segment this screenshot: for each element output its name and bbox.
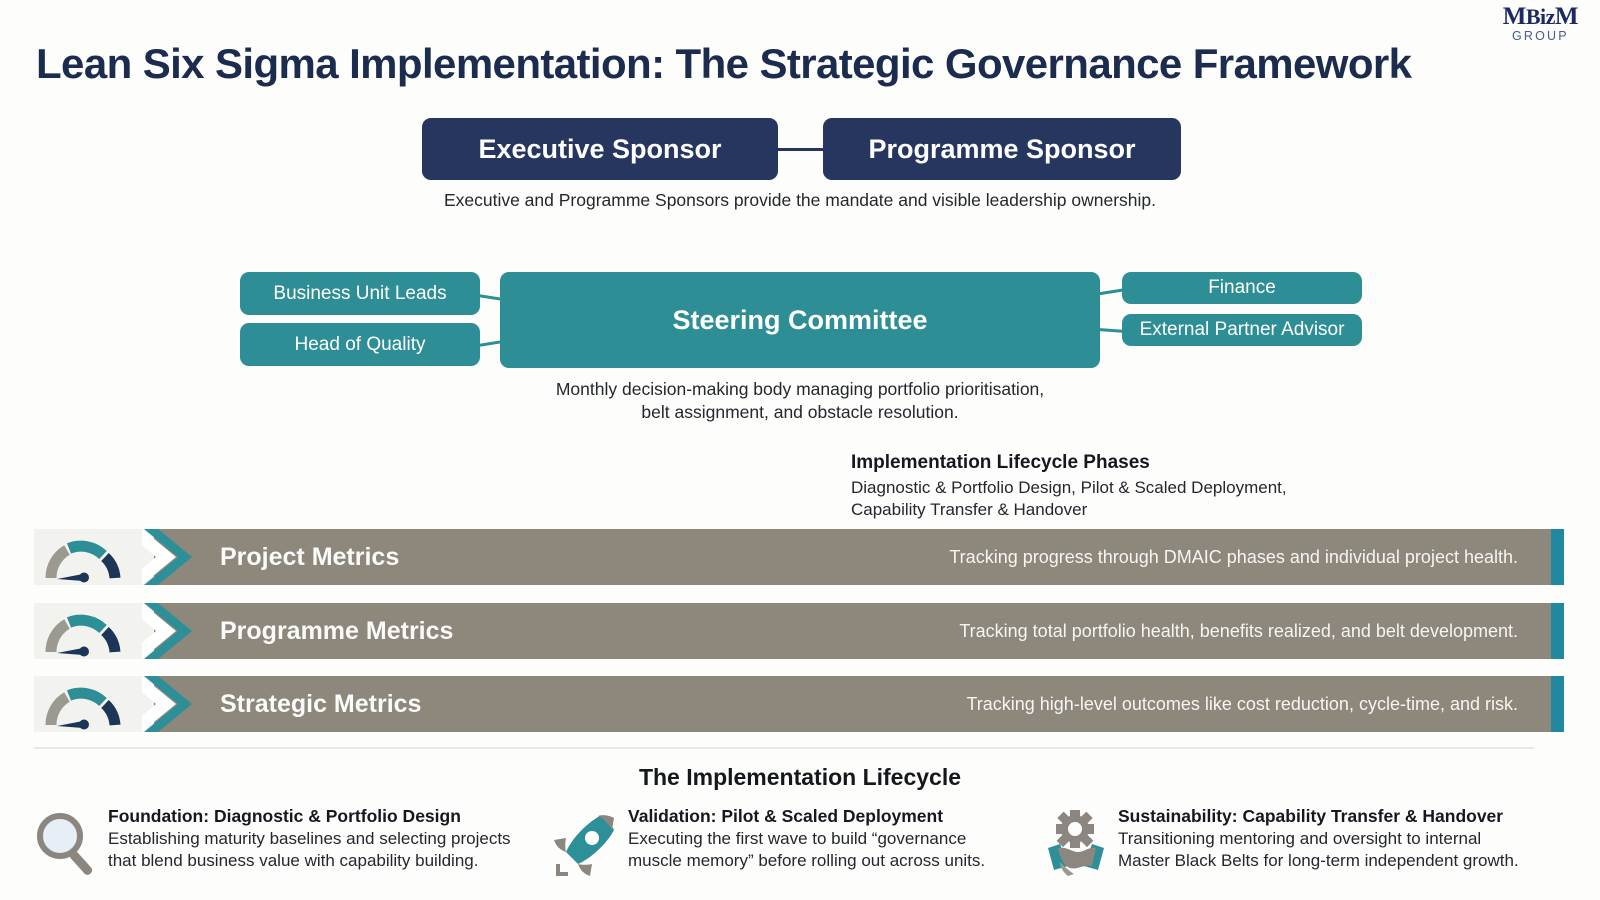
brand-letter-biz: Biz xyxy=(1526,4,1555,29)
gauge-icon xyxy=(41,680,139,730)
member-box-head-of-quality[interactable]: Head of Quality xyxy=(240,323,480,366)
metric-description: Tracking progress through DMAIC phases a… xyxy=(949,529,1518,585)
metric-label: Strategic Metrics xyxy=(220,676,421,732)
lifecycle-item-body-line-2: that blend business value with capabilit… xyxy=(108,850,548,872)
lifecycle-item-text: Validation: Pilot & Scaled Deployment Ex… xyxy=(628,806,1068,872)
chevron-right-icon xyxy=(142,603,204,659)
lifecycle-item-body: Transitioning mentoring and oversight to… xyxy=(1118,828,1588,872)
member-box-business-unit-leads[interactable]: Business Unit Leads xyxy=(240,272,480,315)
lifecycle-item-body-line-2: muscle memory” before rolling out across… xyxy=(628,850,1068,872)
lifecycle-item-body-line-2: Master Black Belts for long-term indepen… xyxy=(1118,850,1588,872)
metric-label: Programme Metrics xyxy=(220,603,453,659)
steering-committee-group: Business Unit Leads Head of Quality Stee… xyxy=(0,272,1600,372)
steering-committee-box[interactable]: Steering Committee xyxy=(500,272,1100,368)
programme-sponsor-box[interactable]: Programme Sponsor xyxy=(823,118,1181,180)
phases-heading: Implementation Lifecycle Phases xyxy=(851,452,1551,474)
lifecycle-item-foundation[interactable]: Foundation: Diagnostic & Portfolio Desig… xyxy=(28,806,508,886)
lifecycle-item-body-line-1: Executing the first wave to build “gover… xyxy=(628,828,1068,850)
sponsor-connector-line xyxy=(778,148,823,151)
section-divider xyxy=(34,747,1534,749)
brand-logo: MBizM GROUP xyxy=(1503,4,1578,43)
brand-wordmark: MBizM xyxy=(1503,4,1578,29)
gauge-icon xyxy=(41,533,139,583)
member-label-head-of-quality: Head of Quality xyxy=(295,334,426,356)
metric-description: Tracking total portfolio health, benefit… xyxy=(959,603,1518,659)
sponsor-row: Executive Sponsor Programme Sponsor xyxy=(0,118,1600,180)
phases-body: Diagnostic & Portfolio Design, Pilot & S… xyxy=(851,477,1551,521)
brand-letter-m2: M xyxy=(1555,3,1578,30)
steering-caption-line-1: Monthly decision-making body managing po… xyxy=(0,378,1600,401)
chevron-right-icon xyxy=(142,529,204,585)
metric-row-programme[interactable]: Programme Metrics Tracking total portfol… xyxy=(34,603,1564,659)
magnifier-icon xyxy=(28,808,104,880)
member-label-external-partner-advisor: External Partner Advisor xyxy=(1140,319,1345,341)
lifecycle-section-title: The Implementation Lifecycle xyxy=(0,764,1600,791)
phases-body-line-2: Capability Transfer & Handover xyxy=(851,499,1551,521)
metric-bar-end-cap xyxy=(1551,529,1564,585)
member-label-finance: Finance xyxy=(1208,277,1276,299)
member-label-business-unit-leads: Business Unit Leads xyxy=(273,283,446,305)
member-box-external-partner-advisor[interactable]: External Partner Advisor xyxy=(1122,314,1362,346)
lifecycle-item-text: Foundation: Diagnostic & Portfolio Desig… xyxy=(108,806,548,872)
chevron-right-icon xyxy=(142,676,204,732)
sponsor-caption: Executive and Programme Sponsors provide… xyxy=(0,190,1600,211)
lifecycle-item-body-line-1: Transitioning mentoring and oversight to… xyxy=(1118,828,1588,850)
metric-bar-end-cap xyxy=(1551,676,1564,732)
programme-sponsor-label: Programme Sponsor xyxy=(868,134,1135,165)
steering-caption-line-2: belt assignment, and obstacle resolution… xyxy=(0,401,1600,424)
steering-committee-caption: Monthly decision-making body managing po… xyxy=(0,378,1600,424)
implementation-lifecycle-phases: Implementation Lifecycle Phases Diagnost… xyxy=(851,452,1551,521)
lifecycle-item-body: Establishing maturity baselines and sele… xyxy=(108,828,548,872)
member-box-finance[interactable]: Finance xyxy=(1122,272,1362,304)
lifecycle-item-validation[interactable]: Validation: Pilot & Scaled Deployment Ex… xyxy=(548,806,1028,886)
rocket-icon xyxy=(548,808,624,880)
lifecycle-item-body-line-1: Establishing maturity baselines and sele… xyxy=(108,828,548,850)
lifecycle-item-heading: Foundation: Diagnostic & Portfolio Desig… xyxy=(108,806,548,827)
gauge-icon xyxy=(41,607,139,657)
lifecycle-item-heading: Validation: Pilot & Scaled Deployment xyxy=(628,806,1068,827)
metric-bar-end-cap xyxy=(1551,603,1564,659)
executive-sponsor-box[interactable]: Executive Sponsor xyxy=(422,118,778,180)
metric-row-strategic[interactable]: Strategic Metrics Tracking high-level ou… xyxy=(34,676,1564,732)
metric-description: Tracking high-level outcomes like cost r… xyxy=(966,676,1518,732)
lifecycle-item-sustainability[interactable]: Sustainability: Capability Transfer & Ha… xyxy=(1038,806,1518,886)
lifecycle-item-body: Executing the first wave to build “gover… xyxy=(628,828,1068,872)
handshake-gear-icon xyxy=(1038,808,1114,880)
phases-body-line-1: Diagnostic & Portfolio Design, Pilot & S… xyxy=(851,477,1551,499)
executive-sponsor-label: Executive Sponsor xyxy=(478,134,721,165)
lifecycle-item-heading: Sustainability: Capability Transfer & Ha… xyxy=(1118,806,1588,827)
metric-row-project[interactable]: Project Metrics Tracking progress throug… xyxy=(34,529,1564,585)
steering-committee-label: Steering Committee xyxy=(672,305,927,336)
brand-letter-m1: M xyxy=(1503,3,1526,30)
page-title: Lean Six Sigma Implementation: The Strat… xyxy=(36,40,1556,88)
metric-label: Project Metrics xyxy=(220,529,399,585)
lifecycle-item-text: Sustainability: Capability Transfer & Ha… xyxy=(1118,806,1588,872)
